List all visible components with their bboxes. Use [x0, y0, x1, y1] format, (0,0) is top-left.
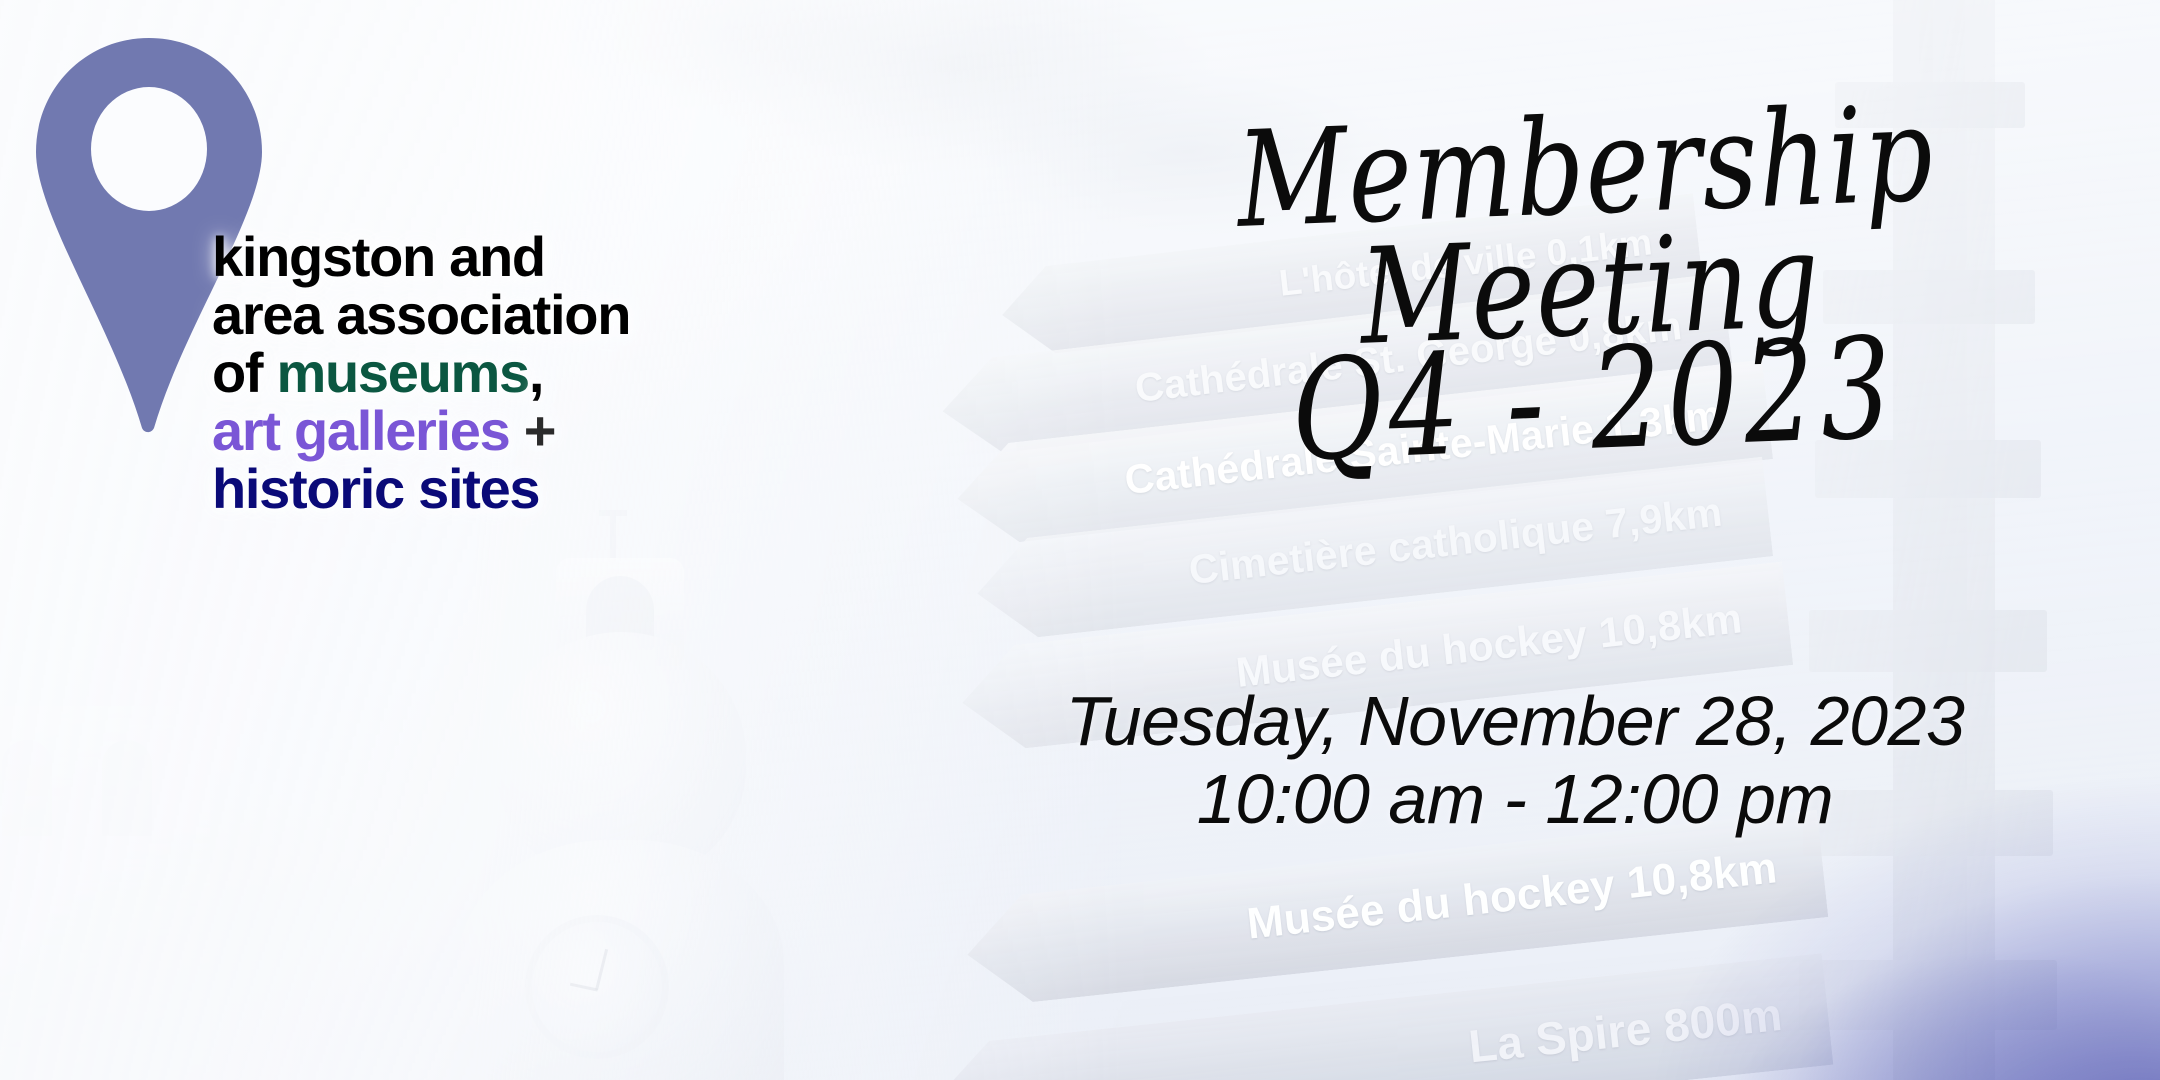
org-line-4: art galleries +	[212, 402, 732, 460]
org-line-3-prefix: of	[212, 341, 277, 404]
event-banner: L'hôtel de ville 0,1km Cathédrale St. Ge…	[0, 0, 2160, 1080]
banner-foreground: kingston and area association of museums…	[0, 0, 2160, 1080]
event-title: Membership Meeting Q4 - 2023	[1074, 107, 2106, 475]
org-line-3: of museums,	[212, 344, 732, 402]
org-highlight-art-galleries: art galleries	[212, 399, 510, 462]
organization-name: kingston and area association of museums…	[212, 228, 732, 518]
org-highlight-historic-sites: historic sites	[212, 457, 539, 520]
org-line-4-suffix: +	[510, 399, 556, 462]
event-date: Tuesday, November 28, 2023	[960, 682, 2070, 760]
org-line-1: kingston and	[212, 228, 732, 286]
event-datetime: Tuesday, November 28, 2023 10:00 am - 12…	[960, 682, 2070, 839]
event-time: 10:00 am - 12:00 pm	[960, 760, 2070, 838]
org-line-3-suffix: ,	[529, 341, 543, 404]
org-highlight-museums: museums	[277, 341, 529, 404]
org-line-5: historic sites	[212, 460, 732, 518]
org-line-2: area association	[212, 286, 732, 344]
